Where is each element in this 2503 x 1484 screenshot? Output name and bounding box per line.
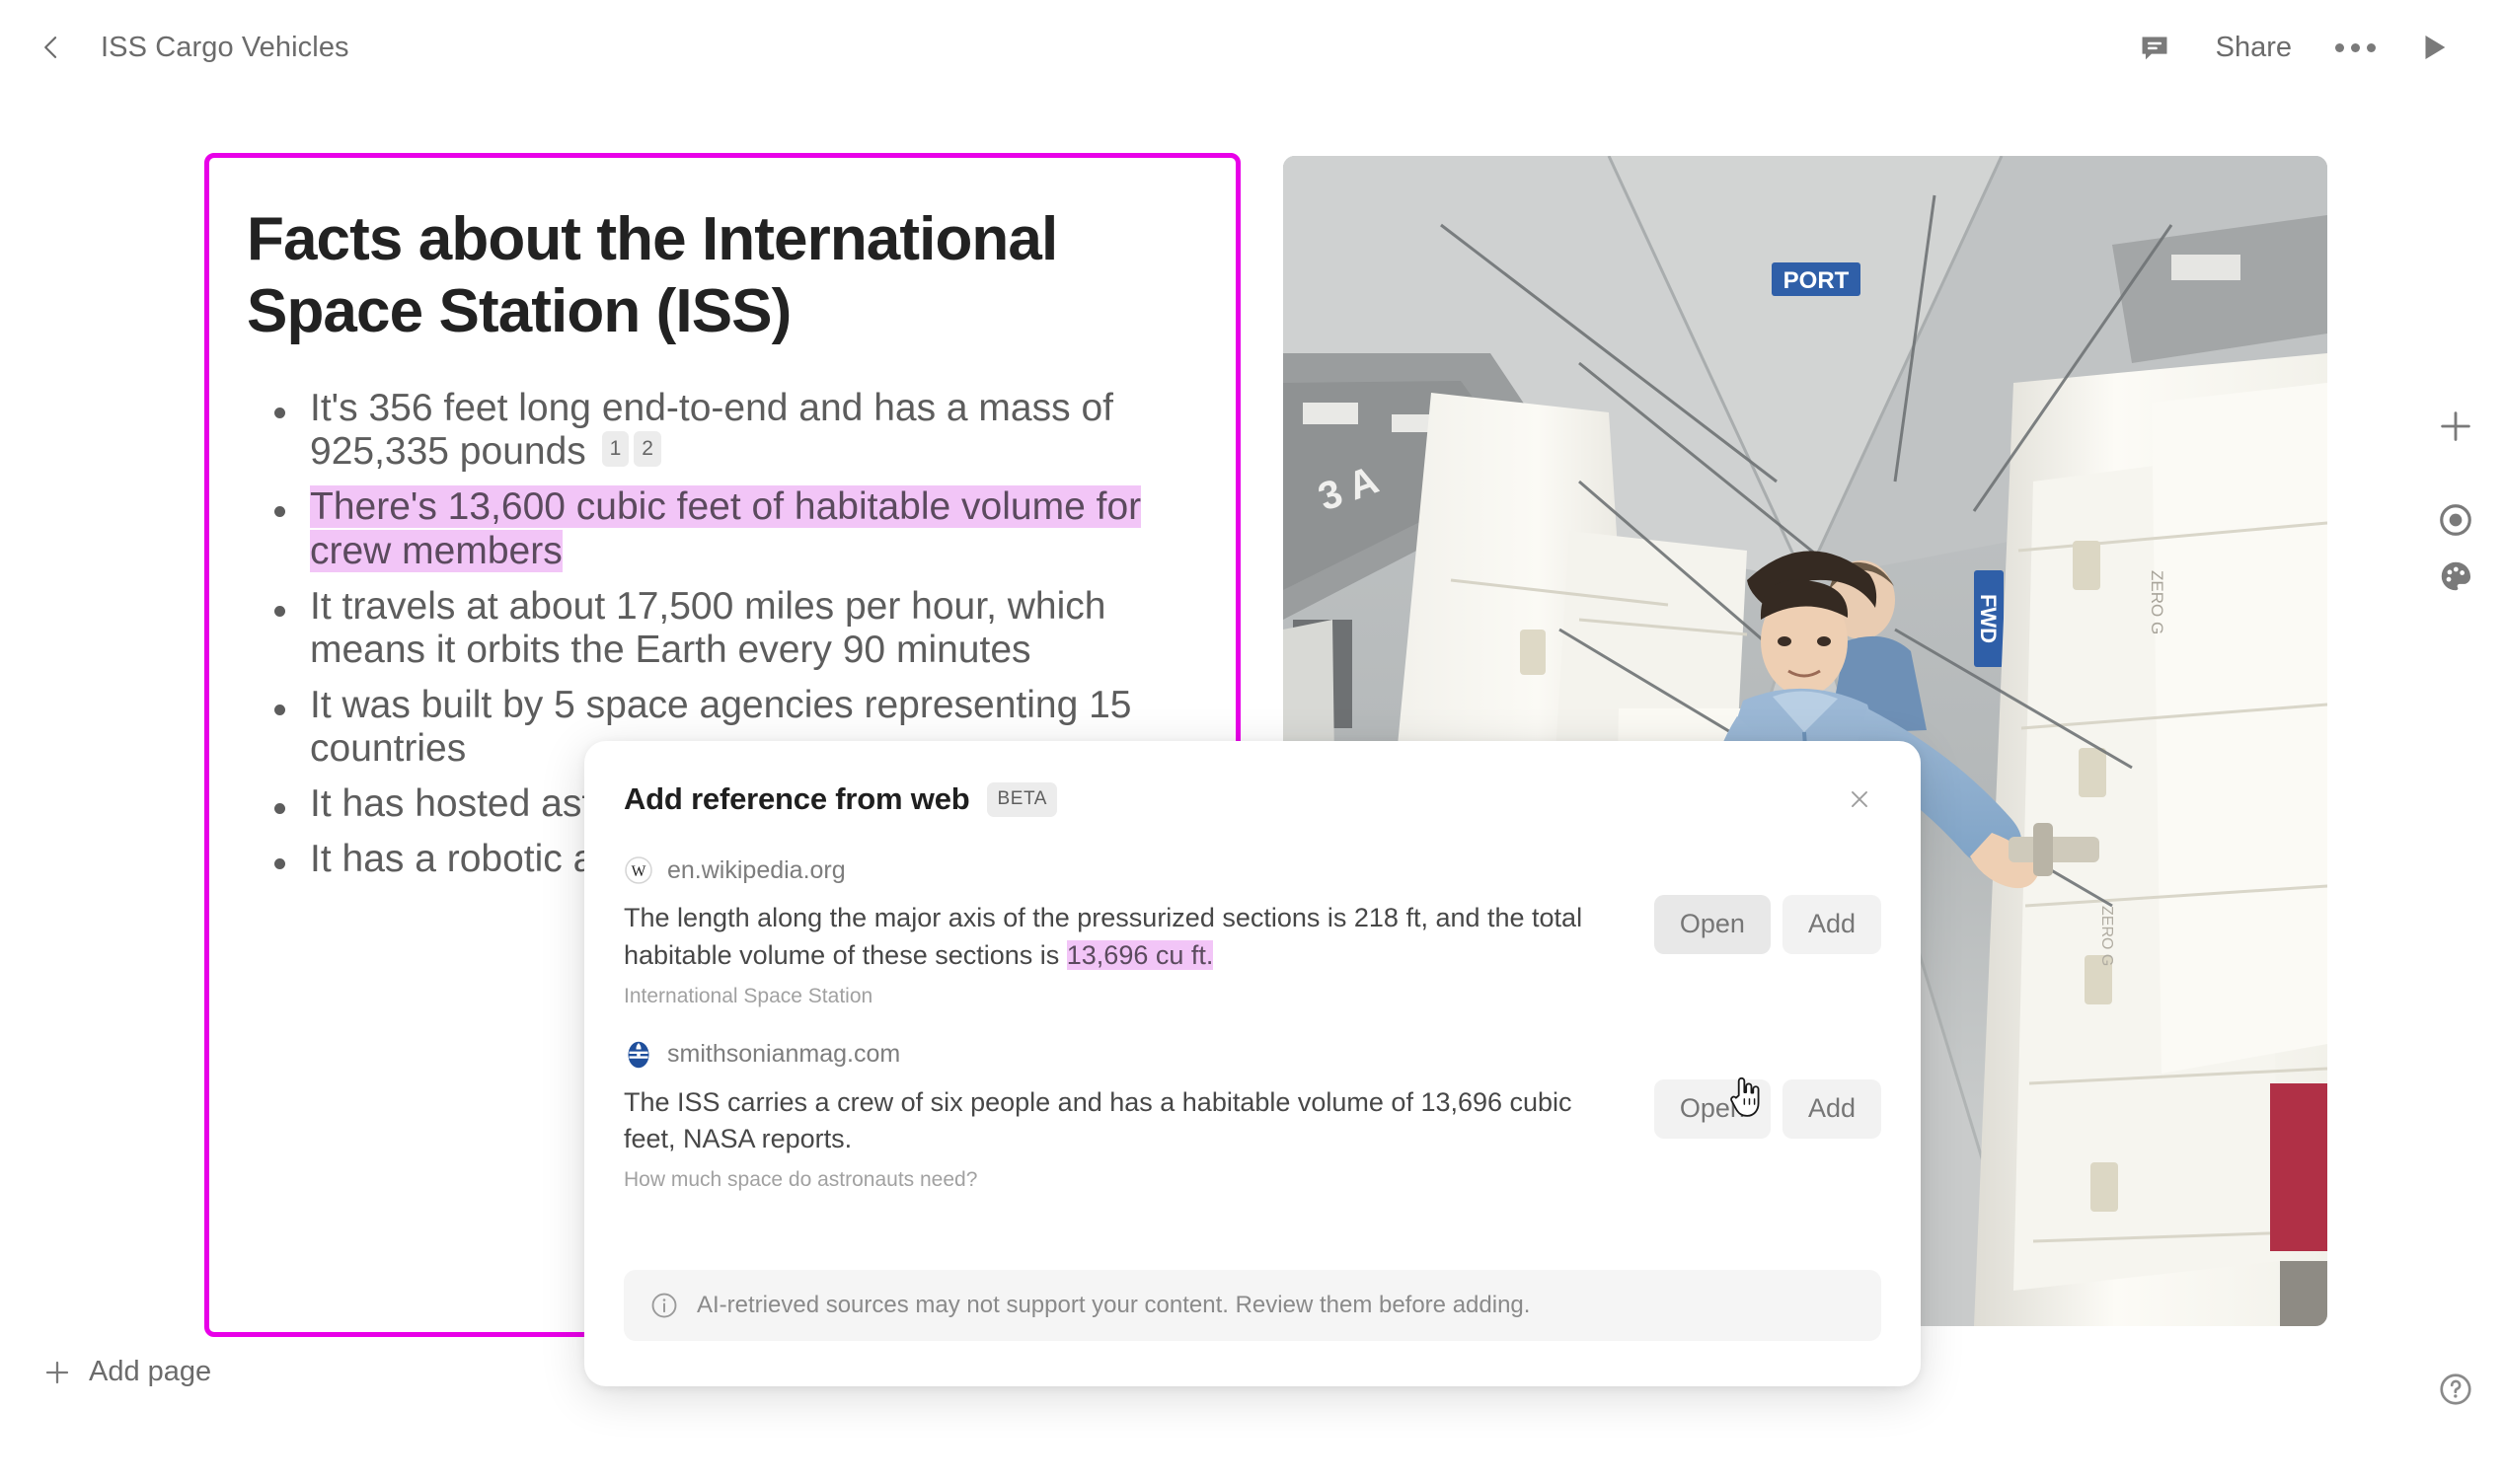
close-icon: [1847, 786, 1872, 812]
add-button[interactable]: Add: [1782, 1079, 1881, 1139]
reference-actions: Open Add: [1654, 1038, 1881, 1193]
ai-notice-text: AI-retrieved sources may not support you…: [697, 1292, 1530, 1319]
theme-button[interactable]: [2426, 547, 2485, 606]
wikipedia-icon: W: [624, 855, 653, 885]
document-title[interactable]: ISS Cargo Vehicles: [101, 32, 349, 64]
reference-actions: Open Add: [1654, 853, 1881, 1008]
comments-button[interactable]: [2119, 16, 2190, 79]
ai-notice: AI-retrieved sources may not support you…: [624, 1270, 1881, 1341]
svg-text:ZERO G: ZERO G: [2148, 570, 2166, 634]
help-button[interactable]: [2426, 1360, 2485, 1419]
beta-badge: BETA: [987, 782, 1057, 817]
reference-snippet: The ISS carries a crew of six people and…: [624, 1084, 1631, 1159]
help-circle-icon: [2437, 1371, 2474, 1408]
more-options-button[interactable]: [2317, 16, 2392, 79]
svg-text:W: W: [632, 863, 646, 880]
citation-chip[interactable]: 2: [634, 431, 661, 467]
svg-text:ZERO G: ZERO G: [2098, 906, 2115, 966]
snippet-text: The ISS carries a crew of six people and…: [624, 1087, 1572, 1154]
bullet-text: It travels at about 17,500 miles per hou…: [310, 585, 1105, 671]
dialog-header: Add reference from web BETA: [624, 775, 1881, 824]
svg-text:FWD: FWD: [1976, 594, 2001, 643]
reference-page-title: How much space do astronauts need?: [624, 1168, 1631, 1192]
source-line: smithsonianmag.com: [624, 1038, 1631, 1072]
close-button[interactable]: [1838, 778, 1881, 821]
snippet-highlight: 13,696 cu ft.: [1067, 940, 1214, 970]
open-button[interactable]: Open: [1654, 895, 1771, 954]
plus-icon: [2436, 407, 2475, 446]
top-bar: ISS Cargo Vehicles Share: [0, 0, 2503, 95]
reference-result[interactable]: W en.wikipedia.org The length along the …: [624, 853, 1881, 1008]
insert-button[interactable]: [2426, 397, 2485, 456]
smithsonian-icon: [624, 1040, 653, 1070]
svg-text:PORT: PORT: [1783, 267, 1850, 294]
share-button[interactable]: Share: [2190, 16, 2317, 79]
reference-content: smithsonianmag.com The ISS carries a cre…: [624, 1038, 1654, 1193]
add-button[interactable]: Add: [1782, 895, 1881, 954]
record-button[interactable]: [2426, 490, 2485, 550]
dialog-title: Add reference from web: [624, 781, 969, 817]
top-bar-actions: Share: [2119, 16, 2469, 79]
comment-icon: [2138, 31, 2171, 64]
source-domain: smithsonianmag.com: [667, 1040, 900, 1069]
reference-snippet: The length along the major axis of the p…: [624, 900, 1631, 975]
list-item[interactable]: There's 13,600 cubic feet of habitable v…: [247, 485, 1184, 572]
slide-title[interactable]: Facts about the International Space Stat…: [247, 203, 1184, 347]
source-line: W en.wikipedia.org: [624, 853, 1631, 887]
share-label: Share: [2216, 32, 2292, 64]
add-reference-dialog: Add reference from web BETA W en.wikiped…: [584, 741, 1921, 1386]
port-label: PORT: [1772, 262, 1860, 296]
bullet-text: It's 356 feet long end-to-end and has a …: [310, 387, 1113, 473]
list-item[interactable]: It travels at about 17,500 miles per hou…: [247, 585, 1184, 672]
info-icon: [649, 1291, 679, 1320]
open-button[interactable]: Open: [1654, 1079, 1771, 1139]
reference-page-title: International Space Station: [624, 985, 1631, 1008]
add-page-button[interactable]: Add page: [30, 1348, 223, 1396]
present-button[interactable]: [2398, 16, 2469, 79]
ellipsis-icon: [2335, 43, 2376, 52]
play-icon: [2417, 31, 2451, 64]
back-button[interactable]: [24, 20, 79, 75]
right-toolbar: [2408, 95, 2503, 1484]
source-domain: en.wikipedia.org: [667, 856, 846, 885]
palette-icon: [2437, 557, 2474, 595]
plus-icon: [41, 1357, 73, 1388]
reference-result[interactable]: smithsonianmag.com The ISS carries a cre…: [624, 1038, 1881, 1193]
citation-chip[interactable]: 1: [602, 431, 630, 467]
highlighted-text: There's 13,600 cubic feet of habitable v…: [310, 485, 1141, 571]
list-item[interactable]: It's 356 feet long end-to-end and has a …: [247, 387, 1184, 474]
reference-content: W en.wikipedia.org The length along the …: [624, 853, 1654, 1008]
record-icon: [2437, 501, 2474, 539]
add-page-label: Add page: [89, 1356, 211, 1388]
chevron-left-icon: [38, 34, 65, 61]
fwd-label: FWD: [1974, 570, 2004, 667]
